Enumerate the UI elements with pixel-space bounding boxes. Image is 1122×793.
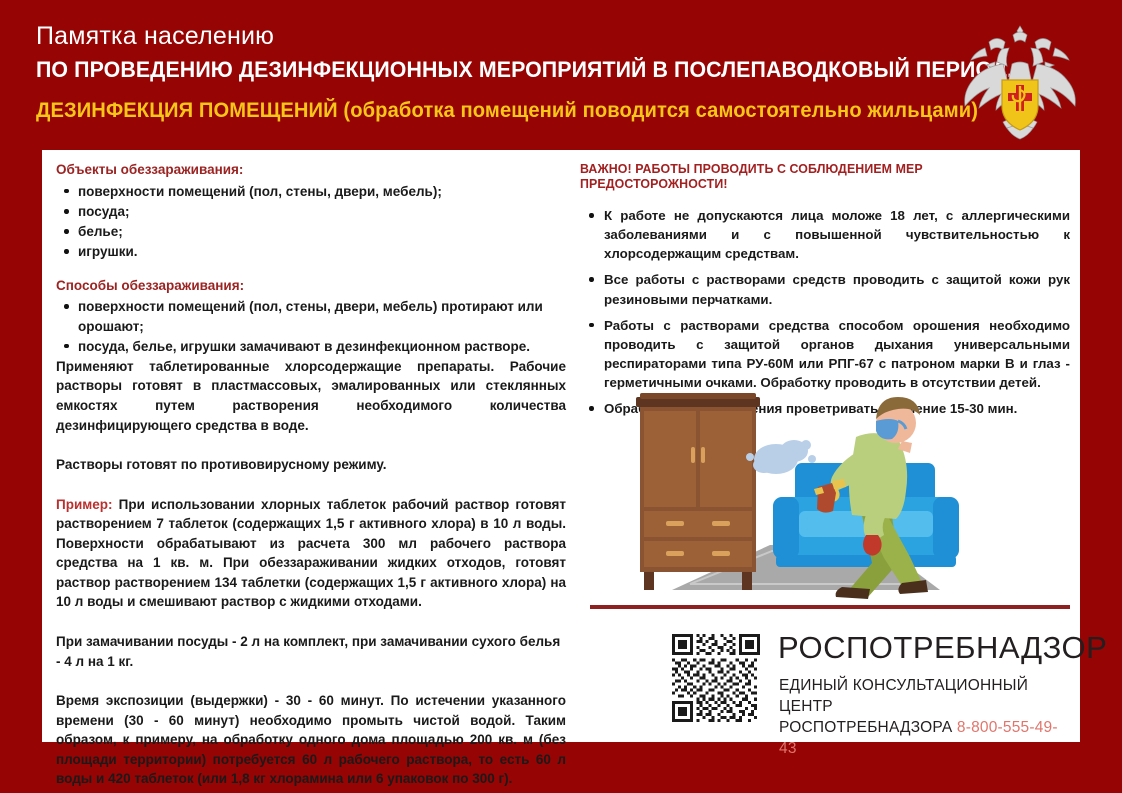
header-highlight-bold: ДЕЗИНФЕКЦИЯ ПОМЕЩЕНИЙ — [36, 99, 338, 122]
header-title: ПО ПРОВЕДЕНИЮ ДЕЗИНФЕКЦИОННЫХ МЕРОПРИЯТИ… — [36, 57, 1013, 83]
header-highlight-rest: (обработка помещений поводится самостоят… — [338, 99, 978, 122]
qr-code-icon — [672, 634, 760, 722]
objects-list: поверхности помещений (пол, стены, двери… — [56, 182, 566, 262]
footer-divider — [590, 605, 1070, 609]
objects-heading: Объекты обеззараживания: — [56, 162, 566, 179]
preparations-paragraph: Применяют таблетированные хлорсодержащие… — [56, 357, 566, 435]
list-item: К работе не допускаются лица моложе 18 л… — [604, 206, 1070, 263]
content-panel: Объекты обеззараживания: поверхности пом… — [42, 150, 1080, 742]
logo-subtitle-line2: РОСПОТРЕБНАДЗОРА 8-800-555-49-43 — [779, 718, 1070, 760]
list-item: посуда; — [78, 202, 566, 221]
header-highlight: ДЕЗИНФЕКЦИЯ ПОМЕЩЕНИЙ (обработка помещен… — [36, 99, 978, 123]
antiviral-note: Растворы готовят по противовирусному реж… — [56, 455, 566, 475]
logo-title: РОСПОТРЕБНАДЗОР — [778, 630, 1107, 666]
logo-subtitle-line2-text: РОСПОТРЕБНАДЗОРА — [779, 719, 952, 736]
logo-subtitle-line1: ЕДИНЫЙ КОНСУЛЬТАЦИОННЫЙ ЦЕНТР — [779, 676, 1070, 718]
header-subtitle: Памятка населению — [36, 22, 274, 51]
poster-root: Памятка населению ПО ПРОВЕДЕНИЮ ДЕЗИНФЕК… — [0, 0, 1122, 793]
list-item: игрушки. — [78, 242, 566, 261]
list-item: белье; — [78, 222, 566, 241]
logo-subtitle: ЕДИНЫЙ КОНСУЛЬТАЦИОННЫЙ ЦЕНТР РОСПОТРЕБН… — [779, 676, 1070, 760]
footer-logo-row: РОСПОТРЕБНАДЗОР ЕДИНЫЙ КОНСУЛЬТАЦИОННЫЙ … — [590, 628, 1070, 728]
exposure-paragraph: Время экспозиции (выдержки) - 30 - 60 ми… — [56, 691, 566, 789]
methods-heading: Способы обеззараживания: — [56, 278, 566, 295]
list-item: поверхности помещений (пол, стены, двери… — [78, 297, 566, 335]
soaking-paragraph: При замачивании посуды - 2 л на комплект… — [56, 632, 566, 671]
rospotrebnadzor-coat-of-arms-icon — [955, 18, 1085, 146]
example-label: Пример: — [56, 497, 113, 512]
example-paragraph: Пример: При использовании хлорных таблет… — [56, 495, 566, 612]
warning-heading: ВАЖНО! РАБОТЫ ПРОВОДИТЬ С СОБЛЮДЕНИЕМ МЕ… — [580, 162, 1065, 192]
list-item: Все работы с растворами средств проводит… — [604, 270, 1070, 308]
list-item: посуда, белье, игрушки замачивают в дези… — [78, 337, 566, 356]
list-item: поверхности помещений (пол, стены, двери… — [78, 182, 566, 201]
left-column: Объекты обеззараживания: поверхности пом… — [56, 162, 566, 732]
list-item: Работы с растворами средства способом ор… — [604, 316, 1070, 393]
methods-list: поверхности помещений (пол, стены, двери… — [56, 297, 566, 355]
poster-header: Памятка населению ПО ПРОВЕДЕНИЮ ДЕЗИНФЕК… — [0, 0, 1122, 150]
man-spraying-disinfectant-illustration — [580, 385, 1070, 600]
example-text: При использовании хлорных таблеток рабоч… — [56, 497, 566, 610]
